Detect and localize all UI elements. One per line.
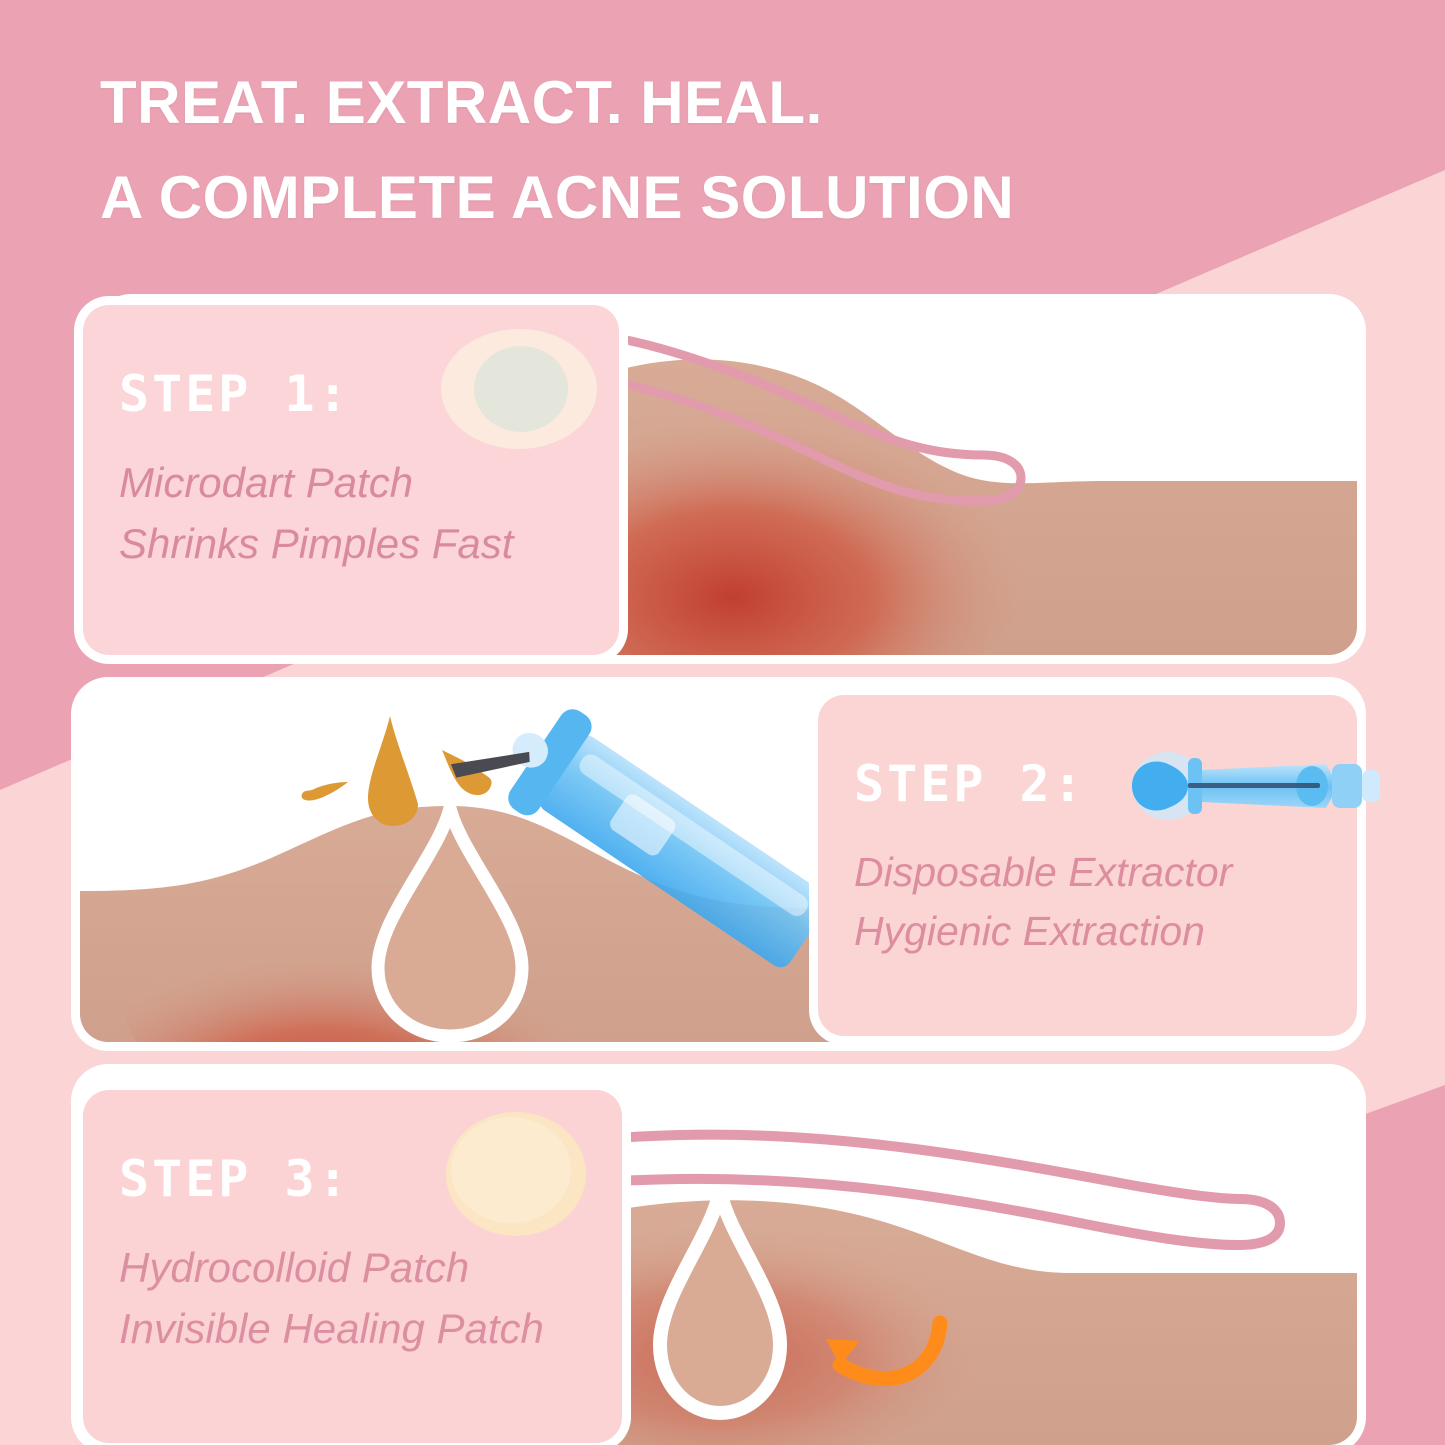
step-1-line-2: Shrinks Pimples Fast [119, 514, 585, 575]
step-card-3[interactable]: STEP 3: Hydrocolloid Patch Invisible Hea… [83, 1090, 622, 1443]
step-card-1[interactable]: STEP 1: Microdart Patch Shrinks Pimples … [83, 305, 619, 655]
step-3-header: STEP 3: [119, 1146, 588, 1212]
step-card-2[interactable]: STEP 2: Disposable Extractor Hygienic Ex… [818, 695, 1357, 1036]
step-2-line-2: Hygienic Extraction [854, 902, 1323, 961]
step-2-header: STEP 2: [854, 751, 1323, 817]
disposable-extractor-icon [1126, 742, 1386, 828]
headline-line-1: TREAT. EXTRACT. HEAL. [100, 56, 1014, 151]
step-1-title: STEP 1: [119, 369, 351, 419]
headline: TREAT. EXTRACT. HEAL. A COMPLETE ACNE SO… [100, 56, 1014, 246]
step-1-header: STEP 1: [119, 361, 585, 427]
microdart-patch-icon [439, 327, 599, 457]
step-3-line-2: Invisible Healing Patch [119, 1299, 588, 1360]
step-1-description: Microdart Patch Shrinks Pimples Fast [119, 453, 585, 575]
step-3-description: Hydrocolloid Patch Invisible Healing Pat… [119, 1238, 588, 1360]
step-2-title: STEP 2: [854, 759, 1086, 809]
hydrocolloid-patch-icon [441, 1110, 591, 1242]
step-2-description: Disposable Extractor Hygienic Extraction [854, 843, 1323, 962]
headline-line-2: A COMPLETE ACNE SOLUTION [100, 151, 1014, 246]
step-1-line-1: Microdart Patch [119, 453, 585, 514]
step-3-line-1: Hydrocolloid Patch [119, 1238, 588, 1299]
step-3-title: STEP 3: [119, 1154, 351, 1204]
step-2-line-1: Disposable Extractor [854, 843, 1323, 902]
